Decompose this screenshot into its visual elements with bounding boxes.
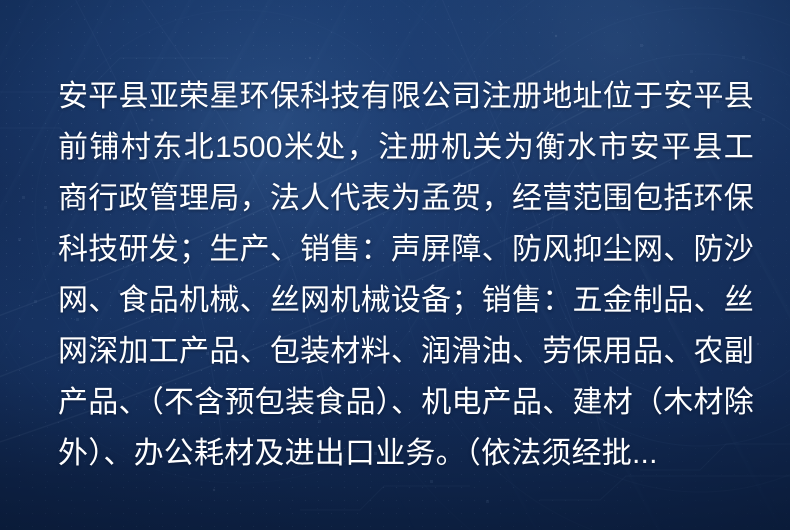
company-description-text: 安平县亚荣星环保科技有限公司注册地址位于安平县前铺村东北1500米处，注册机关为… [58, 71, 754, 479]
profile-card: 安平县亚荣星环保科技有限公司注册地址位于安平县前铺村东北1500米处，注册机关为… [0, 0, 790, 530]
description-block: 安平县亚荣星环保科技有限公司注册地址位于安平县前铺村东北1500米处，注册机关为… [0, 0, 790, 479]
